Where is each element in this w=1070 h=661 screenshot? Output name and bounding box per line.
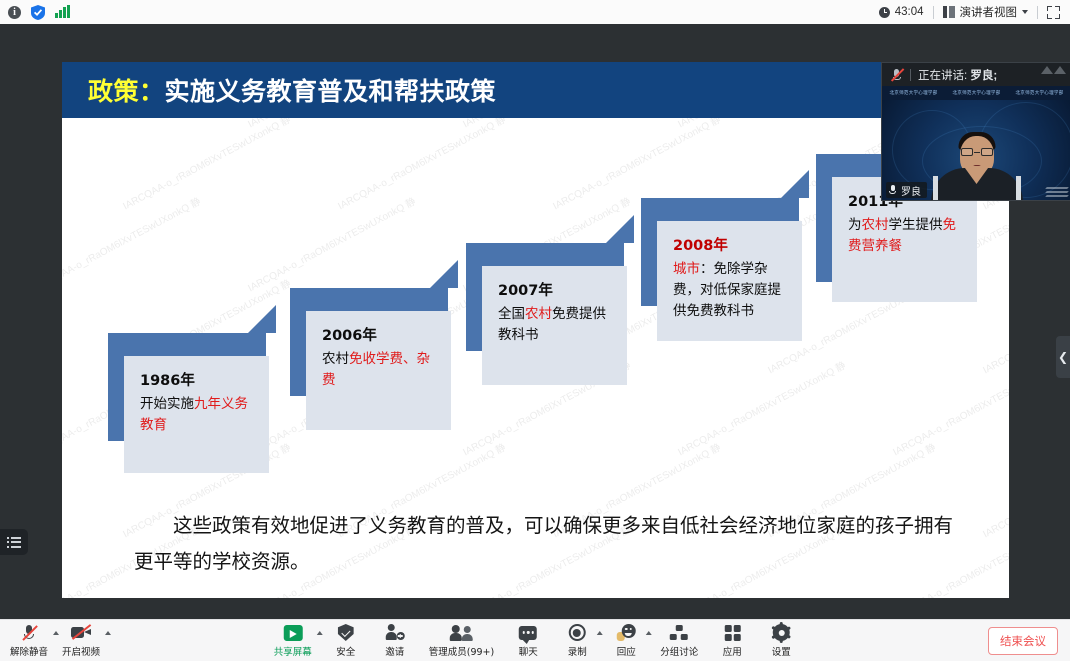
decorative-corner bbox=[1046, 187, 1068, 199]
timeline-card-2008: 2008年 城市：免除学杂费，对低保家庭提供免费教科书 bbox=[641, 198, 809, 341]
timeline-card-2007: 2007年 全国农村免费提供教科书 bbox=[466, 243, 634, 385]
manage-participants-icon bbox=[451, 623, 472, 642]
video-banner-strip: 北京师范大学心理学部 北京师范大学心理学部 北京师范大学心理学部 bbox=[882, 86, 1070, 100]
toolbar-center-group: 共享屏幕 安全 邀请 管理成员(99+) 聊天 录制 回应 bbox=[274, 623, 797, 658]
watermark-text: IARCQAA-o_rRaOM6lXvTESwUXonkQ 静 bbox=[980, 439, 1009, 541]
card-text-red: 城市 bbox=[673, 261, 700, 277]
chevron-up-icon[interactable] bbox=[105, 631, 111, 635]
speaking-now-label: 正在讲话: 罗良; bbox=[918, 67, 997, 83]
speaking-prefix: 正在讲话: bbox=[918, 70, 967, 82]
speaker-video-header: 正在讲话: 罗良; bbox=[882, 63, 1070, 86]
chevron-left-icon[interactable]: ❮ bbox=[1056, 336, 1070, 378]
slide-footnote: 这些政策有效地促进了义务教育的普及，可以确保更多来自低社会经济地位家庭的孩子拥有… bbox=[134, 508, 954, 580]
card-year: 1986年 bbox=[140, 370, 255, 392]
slide-title-bar: 政策：实施义务教育普及和帮扶政策 bbox=[62, 62, 1009, 118]
card-text-line3: 教科书 bbox=[714, 303, 755, 319]
manage-participants-button[interactable]: 管理成员(99+) bbox=[429, 623, 494, 658]
speaker-name: 罗良; bbox=[970, 70, 997, 82]
divider bbox=[933, 6, 934, 19]
security-label: 安全 bbox=[336, 644, 355, 658]
invite-button[interactable]: 邀请 bbox=[380, 623, 410, 658]
watermark-text: IARCQAA-o_rRaOM6lXvTESwUXonkQ 静 bbox=[120, 111, 293, 213]
watermark-text: IARCQAA-o_rRaOM6lXvTESwUXonkQ 静 bbox=[335, 111, 508, 213]
apps-button[interactable]: 应用 bbox=[717, 623, 747, 658]
chevron-up-icon[interactable] bbox=[53, 631, 59, 635]
banner-text: 北京师范大学心理学部 bbox=[953, 90, 1001, 96]
card-text-plain: 为 bbox=[848, 217, 862, 233]
microphone-icon bbox=[888, 185, 897, 196]
info-icon[interactable]: i bbox=[8, 6, 21, 19]
security-shield-icon bbox=[338, 623, 354, 642]
watermark-text: IARCQAA-o_rRaOM6lXvTESwUXonkQ 静 bbox=[62, 193, 203, 295]
speaker-name-tag: 罗良 bbox=[886, 182, 927, 198]
breakout-rooms-label: 分组讨论 bbox=[660, 644, 698, 658]
meeting-stage: IARCQAA-o_rRaOM6lXvTESwUXonkQ 静IARCQAA-o… bbox=[0, 24, 1070, 619]
watermark-text: IARCQAA-o_rRaOM6lXvTESwUXonkQ 静 bbox=[890, 357, 1009, 459]
view-mode-label: 演讲者视图 bbox=[960, 4, 1018, 20]
speaker-video-feed: 北京师范大学心理学部 北京师范大学心理学部 北京师范大学心理学部 罗良 bbox=[882, 86, 1070, 201]
breakout-rooms-icon bbox=[670, 623, 688, 642]
video-toggle-label: 开启视频 bbox=[62, 644, 100, 658]
watermark-text: IARCQAA-o_rRaOM6lXvTESwUXonkQ 静 bbox=[675, 357, 848, 459]
share-screen-button[interactable]: 共享屏幕 bbox=[274, 623, 312, 658]
toolbar-left-group: 解除静音 开启视频 bbox=[0, 623, 100, 658]
microphone-muted-icon bbox=[890, 68, 903, 81]
toolbar-right-group: 结束会议 bbox=[988, 627, 1070, 655]
card-text-plain: 农村 bbox=[322, 351, 349, 367]
card-text-plain: 全国 bbox=[498, 306, 525, 322]
view-mode-selector[interactable]: 演讲者视图 bbox=[943, 4, 1029, 20]
record-label: 录制 bbox=[568, 644, 587, 658]
banner-text: 北京师范大学心理学部 bbox=[1016, 90, 1064, 96]
apps-label: 应用 bbox=[723, 644, 742, 658]
camera-off-icon bbox=[71, 623, 91, 642]
card-year: 2007年 bbox=[498, 280, 613, 302]
chevron-up-icon[interactable] bbox=[646, 631, 652, 635]
system-top-bar: i 43:04 演讲者视图 bbox=[0, 0, 1070, 24]
apps-grid-icon bbox=[724, 623, 740, 642]
slide-title: 政策：实施义务教育普及和帮扶政策 bbox=[62, 72, 496, 108]
manage-participants-label: 管理成员(99+) bbox=[429, 644, 494, 658]
security-button[interactable]: 安全 bbox=[331, 623, 361, 658]
breakout-rooms-button[interactable]: 分组讨论 bbox=[660, 623, 698, 658]
card-body: 1986年 开始实施九年义务教育 bbox=[124, 356, 269, 473]
card-corner-notch bbox=[246, 305, 276, 335]
reactions-emoji-icon bbox=[617, 623, 636, 642]
video-toggle-button[interactable]: 开启视频 bbox=[62, 623, 100, 658]
share-screen-icon bbox=[283, 623, 302, 642]
signal-bars-icon[interactable] bbox=[55, 6, 70, 18]
card-body: 2006年 农村免收学费、杂费 bbox=[306, 311, 451, 430]
slide-title-highlight: 政策： bbox=[88, 77, 165, 106]
invite-label: 邀请 bbox=[385, 644, 404, 658]
panel-list-icon[interactable] bbox=[0, 529, 28, 555]
chevron-up-icon[interactable] bbox=[317, 631, 323, 635]
mute-toggle-label: 解除静音 bbox=[10, 644, 48, 658]
share-screen-label: 共享屏幕 bbox=[274, 644, 312, 658]
card-text-tail: 学生提供 bbox=[889, 217, 943, 233]
speaker-avatar bbox=[927, 132, 1027, 201]
clock-icon bbox=[879, 7, 890, 18]
card-corner-notch bbox=[604, 215, 634, 245]
divider bbox=[910, 69, 911, 81]
invite-person-icon bbox=[385, 623, 404, 642]
card-year: 2008年 bbox=[673, 235, 788, 257]
avatar-stripe bbox=[933, 176, 938, 201]
reactions-label: 回应 bbox=[617, 644, 636, 658]
avatar-glasses bbox=[961, 148, 993, 156]
speaker-name-tag-label: 罗良 bbox=[901, 183, 921, 198]
card-body: 2008年 城市：免除学杂费，对低保家庭提供免费教科书 bbox=[657, 221, 802, 341]
settings-button[interactable]: 设置 bbox=[766, 623, 796, 658]
meeting-toolbar: 解除静音 开启视频 共享屏幕 安全 邀请 管理成员(99+) bbox=[0, 619, 1070, 661]
shield-icon[interactable] bbox=[31, 5, 45, 20]
card-year: 2006年 bbox=[322, 325, 437, 347]
shared-slide: IARCQAA-o_rRaOM6lXvTESwUXonkQ 静IARCQAA-o… bbox=[62, 62, 1009, 598]
record-circle-icon bbox=[569, 623, 586, 642]
card-corner-notch bbox=[779, 170, 809, 200]
card-text-red: 农村 bbox=[525, 306, 552, 322]
avatar-stripe bbox=[1016, 176, 1021, 201]
meeting-timer-value: 43:04 bbox=[895, 6, 924, 18]
card-text-plain: 开始实施 bbox=[140, 396, 194, 412]
meeting-timer: 43:04 bbox=[879, 6, 924, 18]
card-text-line2: 科书 bbox=[512, 327, 539, 343]
card-text-red-2: 育 bbox=[154, 417, 168, 433]
system-bar-left-icons: i bbox=[0, 5, 70, 20]
speaker-view-icon bbox=[943, 6, 955, 18]
mute-toggle-button[interactable]: 解除静音 bbox=[10, 623, 48, 658]
settings-gear-icon bbox=[773, 623, 790, 642]
card-text-red-3: 营养餐 bbox=[862, 238, 903, 254]
end-meeting-button[interactable]: 结束会议 bbox=[988, 627, 1058, 655]
chat-button[interactable]: 聊天 bbox=[513, 623, 543, 658]
timeline-card-2006: 2006年 农村免收学费、杂费 bbox=[290, 288, 458, 430]
fullscreen-icon[interactable] bbox=[1047, 6, 1060, 19]
microphone-muted-icon bbox=[21, 623, 37, 642]
watermark-text: IARCQAA-o_rRaOM6lXvTESwUXonkQ 静 bbox=[245, 193, 418, 295]
record-button[interactable]: 录制 bbox=[562, 623, 592, 658]
chevron-down-icon bbox=[1022, 10, 1028, 14]
divider bbox=[1037, 6, 1038, 19]
chevron-up-icon[interactable] bbox=[597, 631, 603, 635]
slide-title-rest: 实施义务教育普及和帮扶政策 bbox=[165, 77, 497, 106]
reactions-button[interactable]: 回应 bbox=[611, 623, 641, 658]
chat-bubble-icon bbox=[519, 623, 537, 642]
timeline-card-1986: 1986年 开始实施九年义务教育 bbox=[108, 333, 276, 473]
system-bar-right: 43:04 演讲者视图 bbox=[879, 4, 1070, 20]
chat-label: 聊天 bbox=[519, 644, 538, 658]
banner-text: 北京师范大学心理学部 bbox=[890, 90, 938, 96]
card-body: 2007年 全国农村免费提供教科书 bbox=[482, 266, 627, 385]
settings-label: 设置 bbox=[772, 644, 791, 658]
card-corner-notch bbox=[428, 260, 458, 290]
card-text-red: 农村 bbox=[862, 217, 889, 233]
decorative-chevrons bbox=[1041, 66, 1066, 74]
speaker-video-panel[interactable]: 正在讲话: 罗良; 北京师范大学心理学部 北京师范大学心理学部 北京师范大学心理… bbox=[881, 62, 1070, 201]
